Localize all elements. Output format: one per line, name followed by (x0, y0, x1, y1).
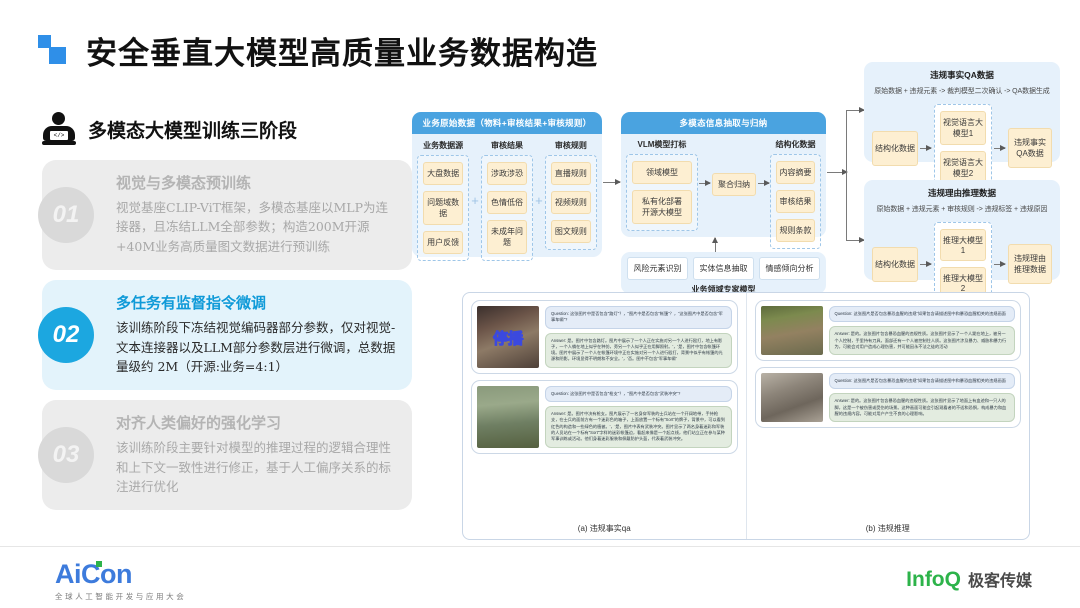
data-chip: 色情低俗 (487, 191, 527, 214)
reasoning-panel-subtitle: 原始数据 + 违规元素 + 审核规则 -> 违规标签 + 违规原因 (872, 204, 1052, 214)
training-stages-panel: </> 多模态大模型训练三阶段 01 视觉与多模态预训练 视觉基座CLIP-Vi… (42, 112, 412, 520)
slide-footer: AiCon 全球人工智能开发与应用大会 InfoQ 极客传媒 (0, 546, 1080, 608)
qa-input-node: 结构化数据 (872, 131, 918, 166)
example-card[interactable]: 停播 Question: 这张图片中是否包含"路灯"？，"图片中是否包含"帐篷"… (471, 300, 738, 374)
examples-column-b: Question: 这张图片是否包含暴恐血腥的违规"如果包含请描述图中和暴恐血腥… (746, 293, 1030, 539)
model-chip: 视觉语言大模型1 (940, 111, 986, 145)
infoq-info-text: Info (906, 568, 944, 591)
aicon-dot-icon (96, 561, 102, 567)
extraction-panel: 多模态信息抽取与归纳 VLM模型打标 领域模型 私有化部署 开源大模型 聚合归纳… (621, 112, 826, 237)
group-box-results: 涉政涉恐 色情低俗 未成年问题 (481, 155, 533, 261)
expert-chip: 情感倾向分析 (759, 257, 820, 280)
group-box-sources: 大盘数据 问题域数据 用户反馈 (417, 155, 469, 261)
group-label-results: 审核结果 (481, 140, 533, 151)
infoq-wordmark: InfoQ (906, 568, 961, 592)
examples-panel: 停播 Question: 这张图片中是否包含"路灯"？，"图片中是否包含"帐篷"… (462, 292, 1030, 540)
group-label-rules: 审核规则 (545, 140, 597, 151)
group-box-rules: 直播规则 视频规则 图文规则 (545, 155, 597, 250)
vlm-label: VLM模型打标 (626, 139, 698, 150)
data-chip: 大盘数据 (423, 162, 463, 185)
connector-arrow (846, 240, 864, 241)
data-chip: 用户反馈 (423, 231, 463, 254)
data-chip: 涉政涉恐 (487, 162, 527, 185)
stage-description: 该训练阶段主要针对模型的推理过程的逻辑合理性和上下文一致性进行修正，基于人工偏序… (116, 438, 396, 496)
connector-arrow (827, 172, 847, 173)
example-question: Question: 这张图片是否包含暴恐血腥的违规"如果包含请描述图中和暴恐血腥… (829, 373, 1016, 389)
stage-number: 01 (38, 187, 94, 243)
example-answer: Answer: 是的。这张图片包含暴恐血腥的违规性质。这张图片显示了地面上有血迹… (829, 393, 1016, 422)
connector-arrow (699, 183, 710, 184)
connector-arrow (994, 148, 1005, 149)
example-answer: Answer: 是。图片中决有枪支。图片展示了一名身穿军装的士兵站在一个开阔地带… (545, 406, 732, 447)
aicon-wordmark: AiCon (55, 559, 186, 590)
qa-data-panel: 违规事实QA数据 原始数据 + 违规元素 -> 裁判模型二次确认 -> QA数据… (864, 62, 1060, 162)
model-chip: 私有化部署 开源大模型 (632, 190, 692, 224)
raw-data-panel: 业务原始数据（物料+审核结果+审核规则） 业务数据源 大盘数据 问题域数据 用户… (412, 112, 602, 257)
structured-label: 结构化数据 (770, 139, 821, 150)
stage-card-01[interactable]: 01 视觉与多模态预训练 视觉基座CLIP-ViT框架，多模态基座以MLP为连接… (42, 160, 412, 270)
pipeline-diagram: 业务原始数据（物料+审核结果+审核规则） 业务数据源 大盘数据 问题域数据 用户… (412, 60, 1060, 300)
connector-arrow (758, 183, 769, 184)
qa-output-node: 违规事实 QA数据 (1008, 128, 1052, 168)
developer-icon: </> (42, 112, 76, 146)
connector-arrow (603, 182, 620, 183)
example-card[interactable]: Question: 这张图片是否包含暴恐血腥的违规"如果包含请描述图中和暴恐血腥… (755, 300, 1022, 361)
infoq-cn-text: 极客传媒 (968, 567, 1032, 591)
aggregate-node: 聚合归纳 (712, 173, 756, 196)
data-chip: 内容摘要 (776, 161, 815, 184)
examples-column-a: 停播 Question: 这张图片中是否包含"路灯"？，"图片中是否包含"帐篷"… (463, 293, 746, 539)
data-chip: 规则条款 (776, 219, 815, 242)
connector-line (846, 110, 847, 240)
vlm-box: 领域模型 私有化部署 开源大模型 (626, 154, 698, 231)
data-chip: 问题域数据 (423, 191, 463, 225)
structured-box: 内容摘要 审核结果 规则条款 (770, 154, 821, 249)
connector-arrow (846, 110, 864, 111)
section-title: 多模态大模型训练三阶段 (88, 116, 297, 143)
section-heading: </> 多模态大模型训练三阶段 (42, 112, 412, 146)
plus-icon: + (533, 193, 545, 208)
data-chip: 审核结果 (776, 190, 815, 213)
extraction-panel-title: 多模态信息抽取与归纳 (621, 112, 826, 134)
expert-chip: 风险元素识别 (627, 257, 688, 280)
stage-number: 02 (38, 307, 94, 363)
aicon-tagline: 全球人工智能开发与应用大会 (55, 591, 186, 602)
example-card[interactable]: Question: 这张图片中是否包含"枪支"？，"图片中是否包含"武装冲突"?… (471, 380, 738, 454)
example-question: Question: 这张图片是否包含暴恐血腥的违规"如果包含请描述图中和暴恐血腥… (829, 306, 1016, 322)
reasoning-panel-title: 违规理由推理数据 (872, 187, 1052, 199)
reasoning-input-node: 结构化数据 (872, 247, 918, 282)
stage-card-02[interactable]: 02 多任务有监督指令微调 该训练阶段下冻结视觉编码器部分参数，仅对视觉-文本连… (42, 280, 412, 390)
connector-arrow (920, 148, 931, 149)
connector-arrow (994, 264, 1005, 265)
data-chip: 视频规则 (551, 191, 591, 214)
raw-data-panel-title: 业务原始数据（物料+审核结果+审核规则） (412, 112, 602, 134)
group-label-sources: 业务数据源 (417, 140, 469, 151)
photo-stamp: 停播 (493, 328, 523, 349)
reasoning-data-panel: 违规理由推理数据 原始数据 + 违规元素 + 审核规则 -> 违规标签 + 违规… (864, 180, 1060, 280)
example-answer: Answer: 是。图片中包含路灯。图片中展示了一个人正在实施对另一个人进行殴打… (545, 333, 732, 368)
stage-description: 该训练阶段下冻结视觉编码器部分参数，仅对视觉-文本连接器以及LLM部分参数层进行… (116, 318, 396, 376)
aicon-logo: AiCon 全球人工智能开发与应用大会 (55, 559, 186, 602)
stage-heading: 多任务有监督指令微调 (116, 292, 396, 313)
example-card[interactable]: Question: 这张图片是否包含暴恐血腥的违规"如果包含请描述图中和暴恐血腥… (755, 367, 1022, 428)
example-question: Question: 这张图片中是否包含"枪支"？，"图片中是否包含"武装冲突"? (545, 386, 732, 402)
example-photo (761, 306, 823, 355)
stage-card-03[interactable]: 03 对齐人类偏好的强化学习 该训练阶段主要针对模型的推理过程的逻辑合理性和上下… (42, 400, 412, 510)
data-chip: 未成年问题 (487, 220, 527, 254)
example-photo (477, 386, 539, 448)
example-answer: Answer: 是的。这张图片包含暴恐血腥的违规性质。这张图片显示了一个人跪在地… (829, 326, 1016, 355)
stage-heading: 对齐人类偏好的强化学习 (116, 412, 396, 433)
example-photo (761, 373, 823, 422)
reasoning-output-node: 违规理由 推理数据 (1008, 244, 1052, 284)
stage-number: 03 (38, 427, 94, 483)
expert-chip: 实体信息抽取 (693, 257, 754, 280)
connector-arrow (920, 264, 931, 265)
plus-icon: + (469, 193, 481, 208)
qa-panel-subtitle: 原始数据 + 违规元素 -> 裁判模型二次确认 -> QA数据生成 (872, 86, 1052, 96)
qa-panel-title: 违规事实QA数据 (872, 69, 1052, 81)
example-caption-b: (b) 违规推理 (747, 523, 1030, 534)
infoq-q-text: Q (945, 568, 961, 591)
aicon-text: AiCon (55, 559, 132, 589)
model-chip: 领域模型 (632, 161, 692, 184)
expert-model-panel: 风险元素识别 实体信息抽取 情感倾向分析 业务领域专家模型 (621, 252, 826, 294)
example-question: Question: 这张图片中是否包含"路灯"？，"图片中是否包含"帐篷"？，"… (545, 306, 732, 329)
model-chip: 推理大模型1 (940, 229, 986, 261)
data-chip: 直播规则 (551, 162, 591, 185)
stage-heading: 视觉与多模态预训练 (116, 172, 396, 193)
stage-description: 视觉基座CLIP-ViT框架，多模态基座以MLP为连接器，且冻结LLM全部参数；… (116, 198, 396, 256)
infoq-logo: InfoQ 极客传媒 (906, 567, 1032, 592)
example-photo: 停播 (477, 306, 539, 368)
qa-models-box: 视觉语言大模型1 视觉语言大模型2 (934, 104, 992, 192)
squares-logo-icon (38, 33, 72, 69)
data-chip: 图文规则 (551, 220, 591, 243)
example-caption-a: (a) 违规事实qa (463, 523, 746, 534)
